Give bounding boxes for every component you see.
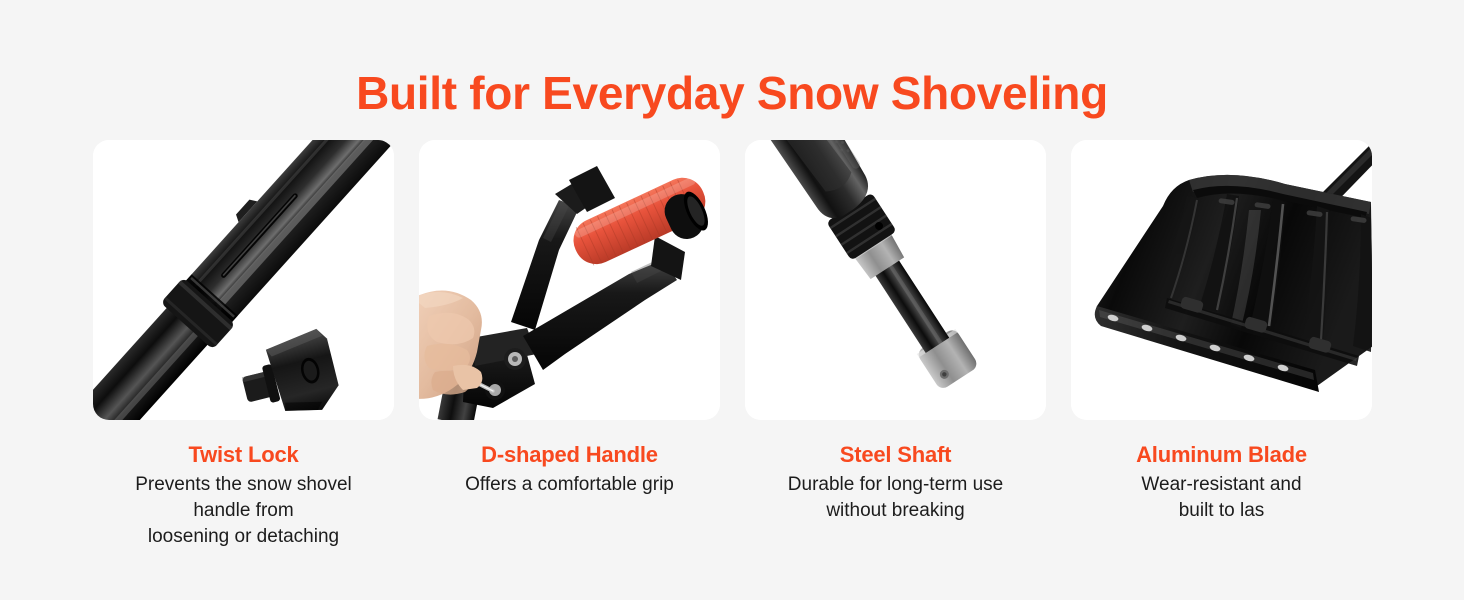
twist-lock-illustration <box>93 140 394 420</box>
feature-card-twist-lock: Twist Lock Prevents the snow shovel hand… <box>93 140 394 550</box>
caption-aluminum-blade: Aluminum Blade Wear-resistant and built … <box>1071 420 1372 524</box>
desc-line: Wear-resistant and <box>1071 472 1372 498</box>
twist-lock-photo <box>93 140 394 420</box>
caption-steel-shaft: Steel Shaft Durable for long-term use wi… <box>745 420 1046 524</box>
caption-d-shaped-handle: D-shaped Handle Offers a comfortable gri… <box>419 420 720 498</box>
feature-card-d-shaped-handle: D-shaped Handle Offers a comfortable gri… <box>419 140 720 550</box>
feature-card-steel-shaft: Steel Shaft Durable for long-term use wi… <box>745 140 1046 550</box>
card-title: Aluminum Blade <box>1071 440 1372 470</box>
card-description: Durable for long-term use without breaki… <box>745 470 1046 524</box>
card-title: Steel Shaft <box>745 440 1046 470</box>
d-shaped-handle-photo <box>419 140 720 420</box>
aluminum-blade-photo <box>1071 140 1372 420</box>
desc-line: without breaking <box>745 498 1046 524</box>
steel-shaft-photo <box>745 140 1046 420</box>
page-title: Built for Everyday Snow Shoveling <box>0 62 1464 124</box>
card-description: Wear-resistant and built to las <box>1071 470 1372 524</box>
desc-line: Durable for long-term use <box>745 472 1046 498</box>
aluminum-blade-illustration <box>1071 140 1372 420</box>
desc-line: Offers a comfortable grip <box>419 472 720 498</box>
hand-illustration <box>419 290 482 398</box>
card-title: D-shaped Handle <box>419 440 720 470</box>
infographic-root: Built for Everyday Snow Shoveling <box>0 0 1464 600</box>
caption-twist-lock: Twist Lock Prevents the snow shovel hand… <box>93 420 394 550</box>
desc-line: handle from <box>93 498 394 524</box>
desc-line: built to las <box>1071 498 1372 524</box>
d-shaped-handle-illustration <box>419 140 720 420</box>
feature-card-grid: Twist Lock Prevents the snow shovel hand… <box>93 140 1371 550</box>
desc-line: Prevents the snow shovel <box>93 472 394 498</box>
feature-card-aluminum-blade: Aluminum Blade Wear-resistant and built … <box>1071 140 1372 550</box>
desc-line: loosening or detaching <box>93 524 394 550</box>
card-description: Prevents the snow shovel handle from loo… <box>93 470 394 550</box>
card-description: Offers a comfortable grip <box>419 470 720 498</box>
card-title: Twist Lock <box>93 440 394 470</box>
steel-shaft-illustration <box>745 140 1046 420</box>
